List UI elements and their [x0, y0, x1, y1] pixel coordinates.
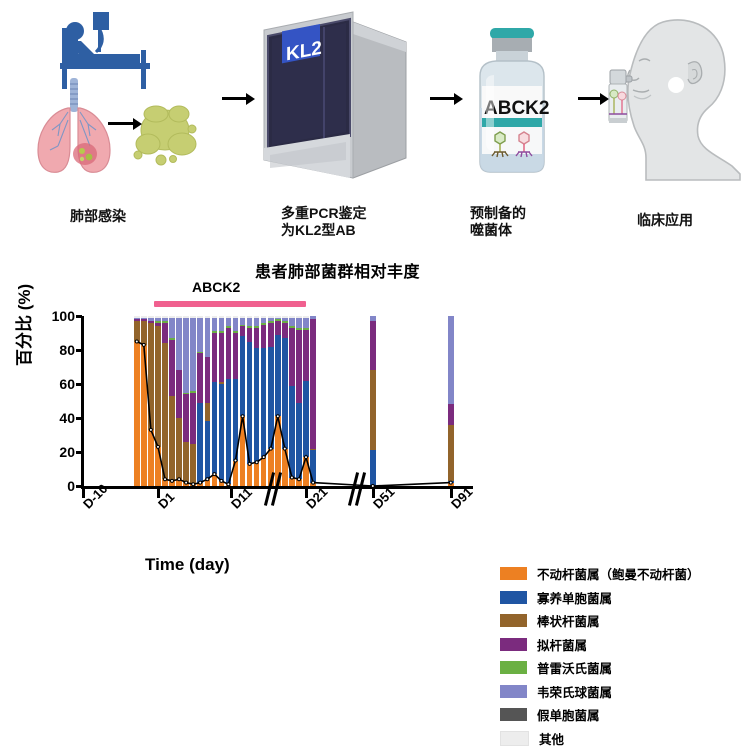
bar-segment — [282, 321, 288, 323]
pcr-thermocycler-icon: KL2 — [258, 8, 413, 188]
bar-column — [282, 316, 288, 486]
bar-segment — [205, 421, 211, 479]
legend-item: 普雷沃氏菌属 — [500, 656, 700, 680]
bar-segment — [233, 331, 239, 333]
bar-segment — [219, 316, 225, 318]
y-axis-title: 百分比 (%) — [10, 342, 35, 366]
legend-item: 假单胞菌属 — [500, 703, 700, 727]
bar-segment — [275, 335, 281, 417]
bar-column — [233, 316, 239, 486]
bar-segment — [247, 464, 253, 486]
bar-segment — [303, 328, 309, 330]
bar-segment — [162, 321, 168, 323]
bar-segment — [197, 318, 203, 352]
bar-segment — [296, 328, 302, 330]
bar-segment — [275, 318, 281, 320]
y-tick-mark — [76, 383, 82, 386]
legend-label: 普雷沃氏菌属 — [537, 658, 612, 677]
bar-segment — [134, 318, 140, 320]
bar-segment — [219, 318, 225, 332]
bar-segment — [169, 481, 175, 486]
bar-column — [261, 316, 267, 486]
legend-item: 不动杆菌属（鲍曼不动杆菌） — [500, 562, 700, 586]
legend-label: 拟杆菌属 — [537, 635, 587, 654]
bar-segment — [261, 325, 267, 349]
bar-segment — [247, 318, 253, 327]
bar-column — [448, 316, 454, 486]
bar-column — [303, 316, 309, 486]
bar-segment — [219, 382, 225, 384]
legend-swatch — [500, 708, 527, 721]
bar-segment — [233, 461, 239, 487]
bar-segment — [289, 478, 295, 487]
bar-segment — [219, 384, 225, 481]
bar-column — [134, 316, 140, 486]
bar-segment — [169, 338, 175, 340]
bar-segment — [448, 404, 454, 424]
legend-label: 寡养单胞菌属 — [537, 588, 612, 607]
bar-segment — [233, 316, 239, 318]
bar-segment — [296, 330, 302, 403]
bar-segment — [197, 352, 203, 354]
bar-segment — [268, 323, 274, 347]
bar-segment — [205, 357, 211, 403]
bar-segment — [197, 316, 203, 318]
bar-segment — [261, 348, 267, 457]
bar-column — [197, 316, 203, 486]
bar-segment — [289, 318, 295, 327]
bar-segment — [233, 379, 239, 461]
y-tick-label: 40 — [59, 410, 75, 426]
bar-segment — [282, 338, 288, 449]
bar-segment — [268, 316, 274, 318]
bar-segment — [275, 321, 281, 335]
bar-segment — [289, 326, 295, 328]
bar-segment — [296, 318, 302, 328]
bar-segment — [268, 318, 274, 321]
bar-column — [226, 316, 232, 486]
bar-segment — [190, 316, 196, 318]
bar-column — [190, 316, 196, 486]
bar-segment — [148, 321, 154, 323]
bar-segment — [205, 318, 211, 357]
legend-label: 不动杆菌属（鲍曼不动杆菌） — [537, 564, 700, 583]
bar-segment — [240, 336, 246, 416]
abck2-treatment-bar — [154, 301, 306, 307]
bar-segment — [226, 328, 232, 379]
bar-segment — [162, 316, 168, 318]
legend-label: 其他 — [539, 729, 564, 748]
bar-segment — [448, 425, 454, 481]
bar-segment — [190, 393, 196, 444]
bar-segment — [254, 326, 260, 328]
bar-segment — [176, 479, 182, 486]
y-tick-label: 100 — [52, 308, 75, 324]
bar-column — [275, 316, 281, 486]
bar-segment — [162, 479, 168, 486]
bar-segment — [148, 323, 154, 430]
bar-segment — [134, 319, 140, 321]
bar-segment — [247, 316, 253, 318]
bar-column — [370, 316, 376, 486]
bar-column — [169, 316, 175, 486]
bar-segment — [226, 316, 232, 318]
bar-segment — [141, 345, 147, 486]
bar-segment — [226, 326, 232, 328]
y-tick-mark — [76, 451, 82, 454]
bar-segment — [247, 326, 253, 328]
legend-swatch — [500, 591, 527, 604]
bar-segment — [212, 382, 218, 474]
bar-segment — [212, 333, 218, 382]
flow-label-clinical-application: 临床应用 — [637, 212, 693, 229]
bar-segment — [205, 403, 211, 422]
axis-break-2 — [350, 472, 366, 506]
bar-column — [176, 316, 182, 486]
bar-segment — [141, 316, 147, 318]
bar-segment — [205, 316, 211, 318]
bar-segment — [141, 318, 147, 320]
bar-segment — [212, 318, 218, 332]
bar-segment — [296, 479, 302, 486]
flow-label-lung-infection: 肺部感染 — [70, 208, 126, 225]
bar-segment — [247, 342, 253, 464]
bar-segment — [240, 326, 246, 336]
bar-segment — [219, 333, 225, 382]
bar-segment — [169, 316, 175, 318]
bar-segment — [190, 318, 196, 391]
bar-segment — [155, 447, 161, 486]
bar-column — [268, 316, 274, 486]
bar-segment — [233, 333, 239, 379]
bar-segment — [155, 316, 161, 318]
bar-segment — [176, 316, 182, 318]
bar-segment — [254, 318, 260, 327]
legend-item: 拟杆菌属 — [500, 633, 700, 657]
bar-segment — [282, 316, 288, 318]
bar-column — [183, 316, 189, 486]
bar-segment — [275, 319, 281, 321]
y-tick-label: 0 — [67, 478, 75, 494]
bar-segment — [275, 316, 281, 318]
legend-item: 其他 — [500, 727, 700, 750]
bar-segment — [183, 316, 189, 318]
y-tick-label: 60 — [59, 376, 75, 392]
bar-segment — [233, 318, 239, 332]
legend-swatch — [500, 614, 527, 627]
bar-segment — [148, 430, 154, 486]
legend-swatch — [500, 638, 527, 651]
bar-segment — [296, 403, 302, 480]
bar-column — [155, 316, 161, 486]
lungs-patient-bed-sputum-icon — [20, 8, 210, 183]
bar-segment — [155, 318, 161, 321]
bar-segment — [155, 321, 161, 323]
bar-segment — [310, 316, 316, 319]
bar-segment — [370, 321, 376, 370]
bar-segment — [370, 370, 376, 450]
bar-column — [289, 316, 295, 486]
bar-segment — [370, 450, 376, 486]
legend-swatch — [500, 685, 527, 698]
bar-segment — [448, 483, 454, 486]
legend-label: 韦荣氏球菌属 — [537, 682, 612, 701]
bar-column — [212, 316, 218, 486]
bar-segment — [219, 331, 225, 333]
legend-item: 韦荣氏球菌属 — [500, 680, 700, 704]
flow-label-prepared-phage: 预制备的 噬菌体 — [470, 205, 526, 239]
axis-break-1 — [266, 472, 282, 506]
bar-segment — [176, 370, 182, 418]
bar-column — [296, 316, 302, 486]
legend-swatch — [500, 567, 527, 580]
y-tick-mark — [76, 485, 82, 488]
chart-title: 患者肺部菌群相对丰度 — [255, 258, 420, 282]
bar-segment — [296, 316, 302, 318]
bar-segment — [289, 316, 295, 318]
legend: 不动杆菌属（鲍曼不动杆菌）寡养单胞菌属棒状杆菌属拟杆菌属普雷沃氏菌属韦荣氏球菌属… — [500, 562, 700, 750]
bar-segment — [212, 316, 218, 318]
bar-segment — [240, 325, 246, 327]
bar-segment — [148, 318, 154, 321]
legend-label: 棒状杆菌属 — [537, 611, 600, 630]
bar-segment — [289, 328, 295, 386]
bar-segment — [134, 316, 140, 318]
bar-column — [254, 316, 260, 486]
bar-segment — [254, 316, 260, 318]
bar-segment — [183, 394, 189, 442]
bar-segment — [134, 321, 140, 341]
bar-segment — [197, 403, 203, 483]
bar-segment — [183, 483, 189, 486]
y-tick-label: 80 — [59, 342, 75, 358]
bar-segment — [268, 321, 274, 323]
bar-segment — [240, 416, 246, 486]
bar-segment — [205, 479, 211, 486]
bar-segment — [303, 457, 309, 486]
x-axis-title: Time (day) — [145, 555, 230, 575]
bar-segment — [176, 418, 182, 479]
y-tick-mark — [76, 417, 82, 420]
legend-swatch — [500, 731, 529, 746]
bar-segment — [190, 391, 196, 393]
bar-segment — [240, 316, 246, 318]
bar-segment — [261, 316, 267, 318]
bar-segment — [448, 481, 454, 483]
bar-segment — [190, 484, 196, 486]
bar-segment — [226, 318, 232, 327]
stacked-bar-chart: 患者肺部菌群相对丰度 百分比 (%) 020406080100 D-10D1D1… — [0, 250, 755, 592]
bar-column — [148, 316, 154, 486]
legend-item: 棒状杆菌属 — [500, 609, 700, 633]
bar-segment — [183, 393, 189, 395]
bar-segment — [148, 316, 154, 318]
bar-segment — [169, 318, 175, 338]
bar-segment — [162, 318, 168, 321]
legend-label: 假单胞菌属 — [537, 705, 600, 724]
bar-column — [247, 316, 253, 486]
bar-segment — [212, 331, 218, 333]
bar-segment — [197, 483, 203, 486]
y-tick-label: 20 — [59, 444, 75, 460]
bar-segment — [212, 474, 218, 486]
bar-segment — [226, 484, 232, 486]
bar-segment — [226, 379, 232, 484]
bar-segment — [254, 348, 260, 462]
bar-column — [240, 316, 246, 486]
bar-column — [205, 316, 211, 486]
bar-segment — [219, 481, 225, 486]
bar-segment — [162, 343, 168, 479]
bar-segment — [303, 330, 309, 381]
bar-segment — [190, 444, 196, 485]
bar-segment — [289, 386, 295, 478]
bar-segment — [254, 462, 260, 486]
bar-segment — [176, 318, 182, 371]
bar-segment — [448, 316, 454, 404]
process-flow-diagram: KL2 ABCK2 — [0, 0, 755, 250]
abck2-label: ABCK2 — [192, 279, 240, 295]
bar-segment — [169, 396, 175, 481]
bar-segment — [282, 449, 288, 486]
bar-segment — [254, 328, 260, 348]
bar-segment — [183, 318, 189, 393]
bar-segment — [310, 483, 316, 486]
bar-column — [310, 316, 316, 486]
bar-segment — [303, 316, 309, 318]
bar-segment — [141, 319, 147, 321]
bar-segment — [155, 323, 161, 326]
bar-segment — [310, 450, 316, 482]
patient-inhaler-head-icon — [608, 8, 753, 183]
bar-segment — [134, 342, 140, 487]
bar-segment — [240, 318, 246, 325]
bar-segment — [162, 323, 168, 343]
bar-segment — [155, 326, 161, 447]
legend-item: 寡养单胞菌属 — [500, 586, 700, 610]
bar-segment — [261, 318, 267, 323]
bar-segment — [247, 328, 253, 342]
plot-area: 020406080100 D-10D1D11D21D51D91 — [82, 316, 472, 486]
bar-segment — [310, 449, 316, 451]
bar-segment — [282, 323, 288, 338]
bar-segment — [282, 318, 288, 321]
bar-column — [162, 316, 168, 486]
flow-label-pcr-identification: 多重PCR鉴定 为KL2型AB — [281, 205, 367, 239]
bar-segment — [268, 347, 274, 449]
legend-swatch — [500, 661, 527, 674]
bar-segment — [261, 323, 267, 325]
bar-segment — [303, 381, 309, 458]
bar-segment — [141, 321, 147, 345]
bar-segment — [370, 316, 376, 321]
bar-segment — [303, 318, 309, 328]
bar-column — [141, 316, 147, 486]
bar-segment — [169, 340, 175, 396]
y-tick-mark — [76, 315, 82, 318]
y-axis — [81, 316, 84, 486]
bar-column — [219, 316, 225, 486]
bar-segment — [197, 353, 203, 402]
bar-segment — [183, 442, 189, 483]
y-tick-mark — [76, 349, 82, 352]
phage-vial-icon: ABCK2 — [462, 22, 562, 187]
bar-segment — [310, 319, 316, 448]
